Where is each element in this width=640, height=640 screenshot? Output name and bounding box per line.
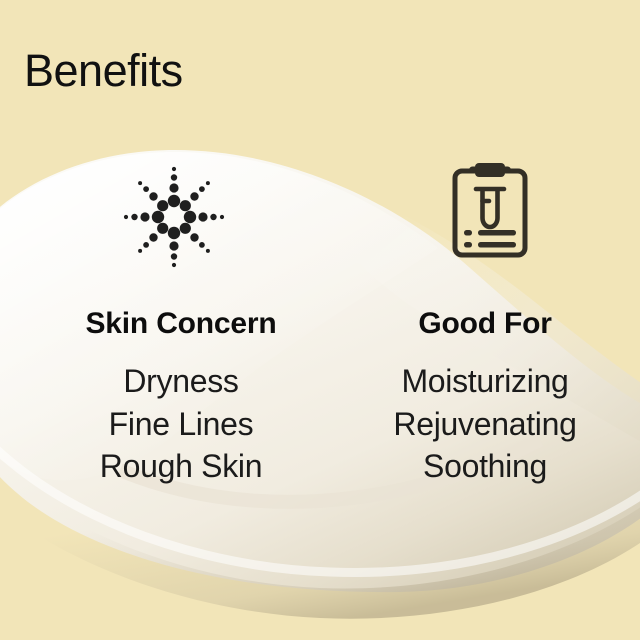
clipboard-clip-bar (469, 167, 511, 174)
starburst-dots-svg (122, 165, 226, 269)
list-item: Moisturizing (340, 360, 630, 402)
list-item: Soothing (340, 445, 630, 487)
clipboard-lines (464, 230, 516, 248)
starburst-dots-icon (122, 165, 226, 269)
column-skin-concern: Skin Concern Dryness Fine Lines Rough Sk… (36, 306, 326, 487)
benefits-panel: Benefits (0, 0, 640, 640)
clipboard-test-tube-icon (445, 160, 535, 260)
list-item: Rejuvenating (340, 403, 630, 445)
benefit-list-good-for: Moisturizing Rejuvenating Soothing (340, 360, 630, 487)
list-item: Fine Lines (36, 403, 326, 445)
test-tube (476, 189, 504, 227)
column-heading-good-for: Good For (340, 306, 630, 341)
column-good-for: Good For Moisturizing Rejuvenating Sooth… (340, 306, 630, 487)
list-item: Dryness (36, 360, 326, 402)
page-title: Benefits (24, 48, 183, 93)
clipboard-test-tube-svg (445, 160, 535, 260)
benefit-list-skin-concern: Dryness Fine Lines Rough Skin (36, 360, 326, 487)
list-item: Rough Skin (36, 445, 326, 487)
column-heading-skin-concern: Skin Concern (36, 306, 326, 341)
